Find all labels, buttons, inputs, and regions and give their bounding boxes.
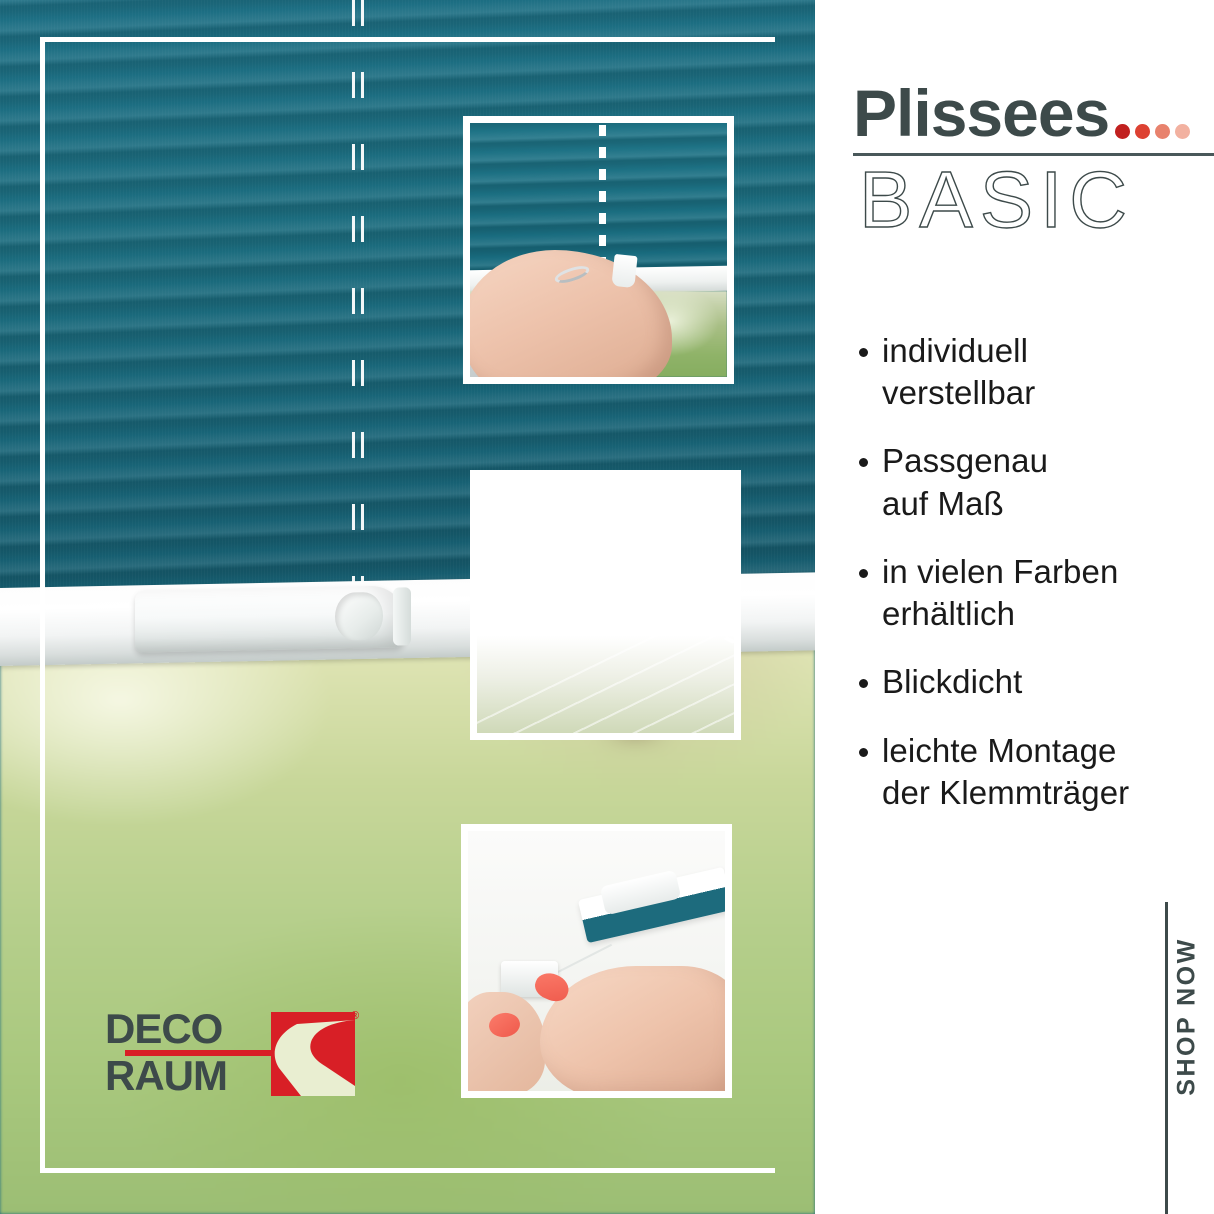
- logo-wordmark: DECO RAUM: [105, 1010, 273, 1095]
- inset2-zigzag-edge: [470, 538, 741, 733]
- logo-text-raum: RAUM: [105, 1057, 273, 1096]
- logo-red-mark-icon: [271, 1012, 355, 1096]
- promo-banner: DECO RAUM ® Plissees: [0, 0, 1214, 1214]
- headline-dot-2: [1135, 124, 1150, 139]
- headline-main-row: Plissees: [853, 80, 1193, 146]
- bullet-dot-icon: [859, 748, 868, 757]
- registered-trademark-icon: ®: [351, 1010, 359, 1022]
- headline-block: Plissees BASIC: [853, 80, 1193, 242]
- inset-photo-pleat-closeup: [470, 470, 741, 740]
- logo-text-deco: DECO: [105, 1010, 273, 1049]
- shop-now-rule: [1165, 902, 1168, 1214]
- decoraum-logo[interactable]: DECO RAUM ®: [105, 1010, 355, 1102]
- feature-text: Passgenau auf Maß: [882, 440, 1048, 524]
- inset-photo-hand-adjusting-blind: [463, 116, 734, 384]
- feature-text: leichte Montage der Klemmträger: [882, 730, 1129, 814]
- headline-dot-4: [1175, 124, 1190, 139]
- inset3-hand-left: [461, 992, 545, 1096]
- bullet-dot-icon: [859, 569, 868, 578]
- list-item: Passgenau auf Maß: [859, 440, 1209, 524]
- feature-list: individuell verstellbar Passgenau auf Ma…: [859, 330, 1209, 840]
- bullet-dot-icon: [859, 348, 868, 357]
- inset1-cord: [599, 125, 606, 272]
- window-handle: [135, 585, 405, 652]
- list-item: individuell verstellbar: [859, 330, 1209, 414]
- shop-now-label[interactable]: SHOP NOW: [1173, 867, 1202, 1167]
- feature-text: individuell verstellbar: [882, 330, 1035, 414]
- feature-text: in vielen Farben erhältlich: [882, 551, 1118, 635]
- bullet-dot-icon: [859, 679, 868, 688]
- list-item: Blickdicht: [859, 661, 1209, 703]
- blind-cord-ladder: [352, 0, 368, 600]
- inset-photo-clamp-bracket-install: [461, 824, 732, 1098]
- headline-dot-3: [1155, 124, 1170, 139]
- headline-dot-1: [1115, 124, 1130, 139]
- headline-dots-icon: [1115, 124, 1190, 146]
- feature-text: Blickdicht: [882, 661, 1022, 703]
- bullet-dot-icon: [859, 458, 868, 467]
- product-photo-panel: DECO RAUM ®: [0, 0, 815, 1214]
- headline-main-text: Plissees: [853, 80, 1109, 146]
- headline-sub-text: BASIC: [859, 158, 1193, 242]
- list-item: leichte Montage der Klemmträger: [859, 730, 1209, 814]
- list-item: in vielen Farben erhältlich: [859, 551, 1209, 635]
- inset1-pull-tab: [611, 254, 637, 288]
- shop-now-cta[interactable]: SHOP NOW: [1147, 902, 1214, 1214]
